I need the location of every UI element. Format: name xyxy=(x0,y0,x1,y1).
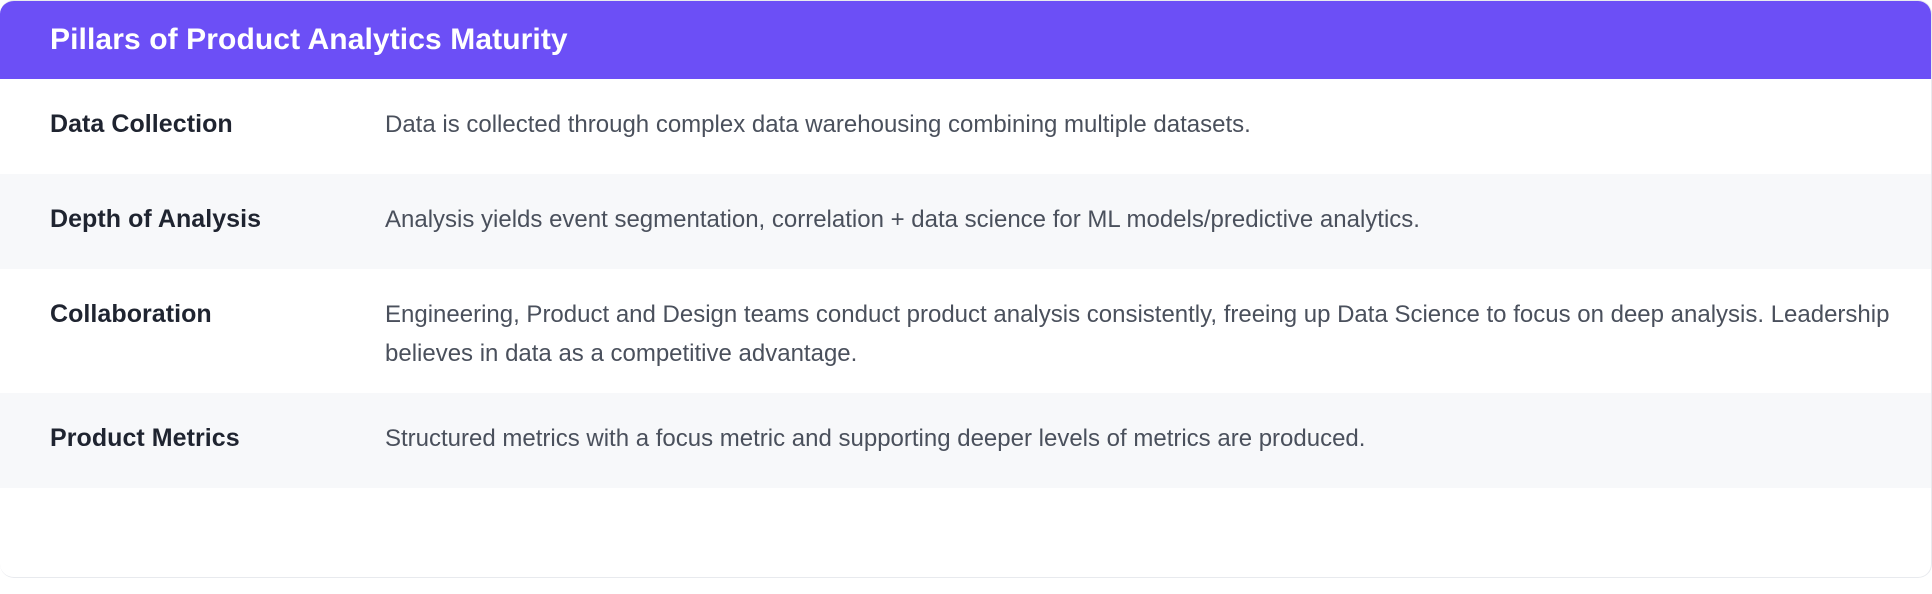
row-description-collaboration: Engineering, Product and Design teams co… xyxy=(385,269,1891,373)
pillars-card: Pillars of Product Analytics Maturity Da… xyxy=(0,0,1932,578)
row-description-depth-of-analysis: Analysis yields event segmentation, corr… xyxy=(385,174,1891,239)
row-label-depth-of-analysis: Depth of Analysis xyxy=(50,174,385,234)
row-label-data-collection: Data Collection xyxy=(50,79,385,139)
table-row: Data Collection Data is collected throug… xyxy=(0,79,1931,174)
card-header: Pillars of Product Analytics Maturity xyxy=(0,1,1931,79)
table-row: Collaboration Engineering, Product and D… xyxy=(0,269,1931,393)
row-description-product-metrics: Structured metrics with a focus metric a… xyxy=(385,393,1891,458)
row-description-data-collection: Data is collected through complex data w… xyxy=(385,79,1891,144)
page-title: Pillars of Product Analytics Maturity xyxy=(50,23,568,57)
row-label-product-metrics: Product Metrics xyxy=(50,393,385,453)
table-row: Depth of Analysis Analysis yields event … xyxy=(0,174,1931,269)
table-row: Product Metrics Structured metrics with … xyxy=(0,393,1931,488)
row-label-collaboration: Collaboration xyxy=(50,269,385,329)
pillars-table: Data Collection Data is collected throug… xyxy=(0,79,1931,488)
